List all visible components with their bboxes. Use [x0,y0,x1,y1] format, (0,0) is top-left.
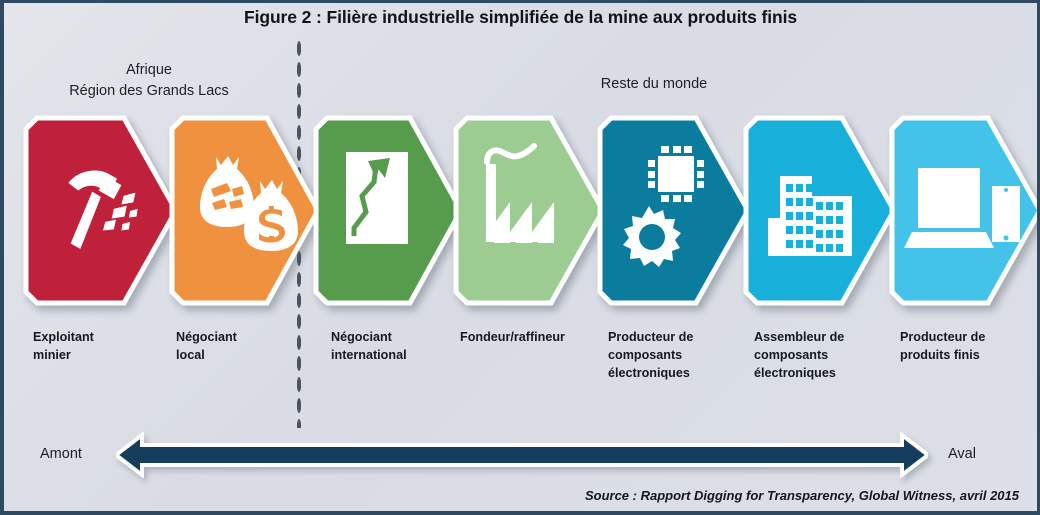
region-header-africa: Afrique Région des Grands Lacs [14,60,284,102]
process-chevron-band [4,118,1040,303]
stage-chevron-producteur-produits-finis[interactable] [892,118,1040,303]
flow-label-aval: Aval [948,446,976,462]
stage-label-assembleur-composants: Assembleur de composants électroniques [754,329,889,383]
stage-label-line: produits finis [900,347,1030,365]
stage-label-line: Fondeur/raffineur [460,329,605,347]
region-africa-line2: Région des Grands Lacs [14,81,284,102]
stage-chevron-producteur-composants[interactable] [600,118,748,303]
stage-label-line: composants [608,347,738,365]
growth-arrow-chart-icon [346,152,408,244]
stage-label-producteur-composants: Producteur de composants électroniques [608,329,738,383]
region-africa-line1: Afrique [14,60,284,81]
stage-label-line: électroniques [754,365,889,383]
figure-container: Figure 2 : Filière industrielle simplifi… [0,0,1040,515]
stage-label-line: Producteur de [900,329,1030,347]
stage-label-exploitant-minier: Exploitant minier [33,329,163,365]
stage-label-line: électroniques [608,365,738,383]
stage-label-line: local [176,347,306,365]
figure-title: Figure 2 : Filière industrielle simplifi… [4,7,1037,28]
region-world-line1: Reste du monde [474,74,834,95]
stage-chevron-assembleur-composants[interactable] [746,118,894,303]
flow-direction-arrow [116,432,928,478]
stage-chevron-negociant-local[interactable] [172,118,318,303]
stage-label-producteur-produits-finis: Producteur de produits finis [900,329,1030,365]
stage-chevron-fondeur-raffineur[interactable] [456,118,603,303]
stage-label-line: international [331,347,456,365]
stage-label-negociant-international: Négociant international [331,329,456,365]
stage-chevron-negociant-international[interactable] [316,118,461,303]
stage-label-line: Producteur de [608,329,738,347]
stage-chevron-exploitant-minier[interactable] [26,118,176,303]
stage-label-line: Assembleur de [754,329,889,347]
region-header-rest-of-world: Reste du monde [474,74,834,95]
flow-label-amont: Amont [40,446,82,462]
stage-label-negociant-local: Négociant local [176,329,306,365]
stage-label-line: composants [754,347,889,365]
stage-label-line: minier [33,347,163,365]
stage-label-line: Négociant [331,329,456,347]
stage-label-line: Exploitant [33,329,163,347]
stage-label-line: Négociant [176,329,306,347]
stage-label-fondeur-raffineur: Fondeur/raffineur [460,329,605,347]
figure-source-note: Source : Rapport Digging for Transparenc… [585,488,1019,503]
